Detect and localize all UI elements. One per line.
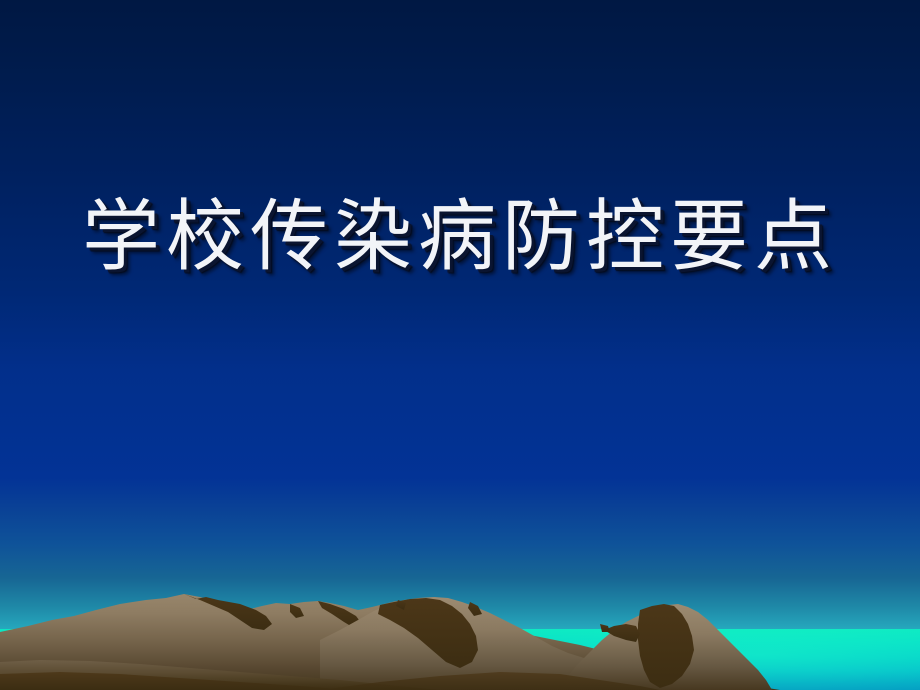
page-title: 学校传染病防控要点 — [82, 186, 838, 288]
presentation-slide: 学校传染病防控要点 — [0, 0, 920, 690]
mountain-range-silhouette — [0, 0, 920, 690]
mountain-right-group — [560, 604, 772, 690]
slide-title-container: 学校传染病防控要点 — [0, 186, 920, 288]
